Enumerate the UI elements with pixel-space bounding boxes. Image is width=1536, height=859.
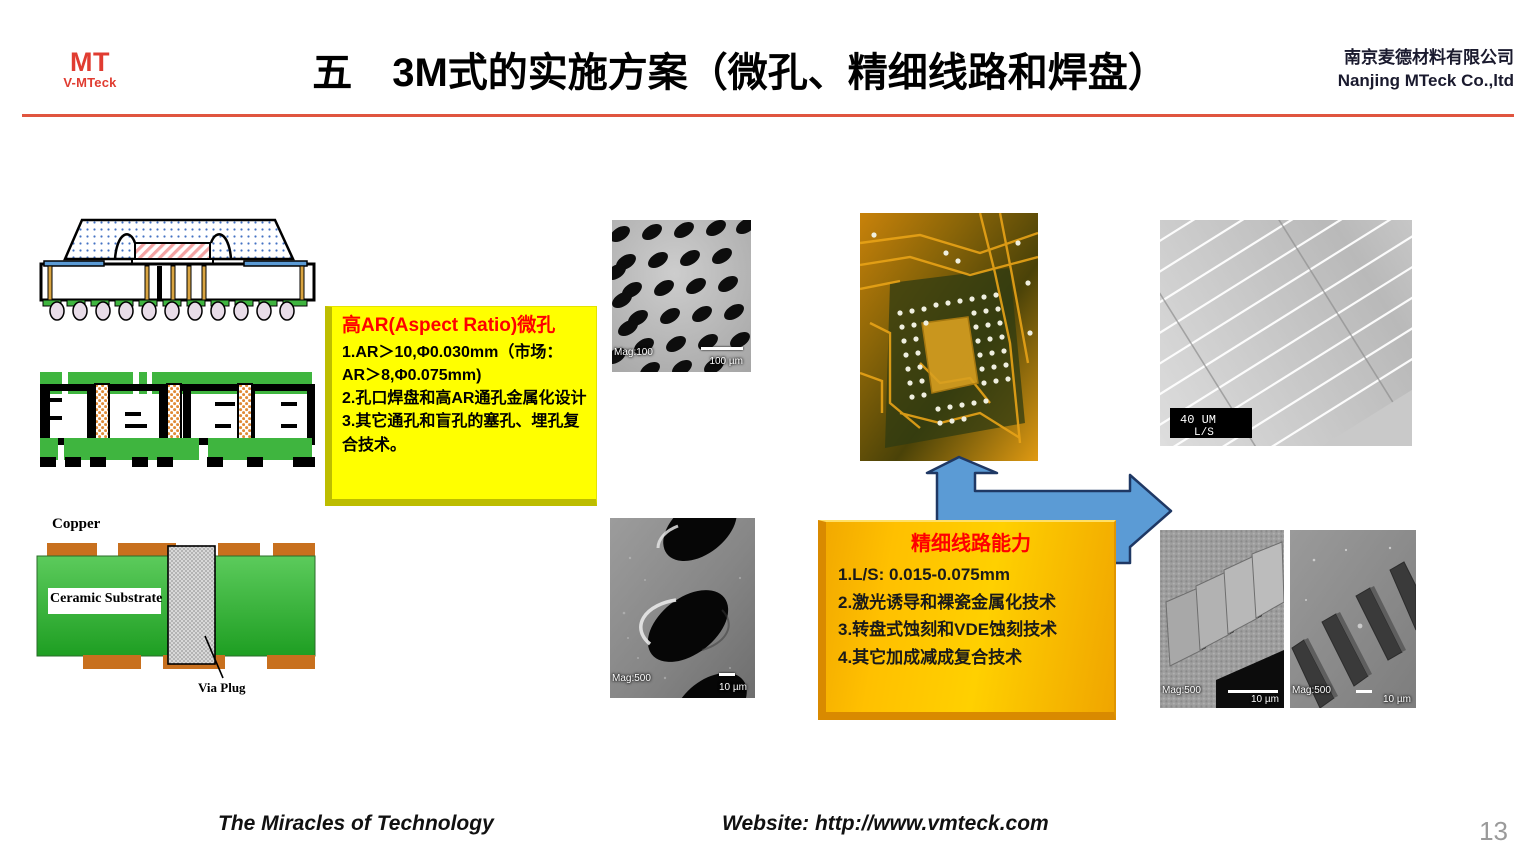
callout-fineline-line-1: 1.L/S: 0.015-0.075mm: [838, 561, 1104, 589]
sem-mag-label: Mag:500: [1162, 685, 1201, 696]
svg-text:40 UM: 40 UM: [1180, 413, 1216, 427]
sem-scale-label: 10 µm: [1383, 694, 1411, 705]
sem-mag-label: Mag:500: [612, 673, 651, 684]
label-ceramic-substrate: Ceramic Substrate: [50, 591, 162, 607]
sem-scale-label: 100 µm: [709, 356, 743, 367]
page-number: 13: [1479, 816, 1508, 847]
sem-trace-trenches-svg: [1290, 530, 1416, 708]
logo-subtitle: V-MTeck: [30, 76, 150, 90]
company-name: 南京麦德材料有限公司 Nanjing MTeck Co.,ltd: [1338, 47, 1514, 93]
page-title: 五 3M式的实施方案（微孔、精细线路和焊盘）: [200, 40, 1280, 98]
micrograph-sem-via-closeup: Mag:500 10 µm: [610, 518, 755, 698]
micrograph-sem-trace-trenches: Mag:500 10 µm: [1290, 530, 1416, 708]
callout-fineline-title: 精细线路能力: [838, 532, 1104, 557]
slide-canvas: MT V-MTeck 五 3M式的实施方案（微孔、精细线路和焊盘） 南京麦德材料…: [0, 0, 1536, 859]
sem-scale-label: 10 µm: [719, 682, 747, 693]
micrograph-sem-trace-walls: Mag:500 10 µm: [1160, 530, 1284, 708]
header-divider: [22, 114, 1514, 117]
sem-scale-label: 10 µm: [1251, 694, 1279, 705]
callout-microvia-line-2: AR＞8,Φ0.075mm): [342, 364, 588, 387]
company-name-en: Nanjing MTeck Co.,ltd: [1338, 70, 1514, 93]
callout-fineline-line-4: 4.其它加成减成复合技术: [838, 644, 1104, 672]
sem-scalebar: [719, 673, 735, 676]
package-cross-section-svg: [35, 212, 320, 342]
diagram-pcb-cross-section: [35, 372, 320, 477]
micrograph-sem-line-space: 40 UM L/S: [1160, 220, 1412, 446]
sem-scalebar: [701, 347, 743, 350]
callout-microvia: 高AR(Aspect Ratio)微孔 1.AR＞10,Φ0.030mm（市场：…: [325, 306, 597, 506]
label-copper: Copper: [52, 516, 100, 533]
callout-microvia-line-4: 3.其它通孔和盲孔的塞孔、埋孔复: [342, 410, 588, 433]
company-name-cn: 南京麦德材料有限公司: [1338, 47, 1514, 70]
photo-pcb-board: [860, 213, 1038, 461]
ceramic-substrate-svg: [35, 508, 325, 708]
sem-mag-label: Mag:100: [614, 347, 653, 358]
footer-website[interactable]: Website: http://www.vmteck.com: [722, 812, 1049, 836]
micrograph-sem-via-array: Mag:100 100 µm: [612, 220, 751, 372]
sem-via-closeup-svg: [610, 518, 755, 698]
svg-text:L/S: L/S: [1194, 427, 1214, 439]
callout-microvia-line-1: 1.AR＞10,Φ0.030mm（市场：: [342, 341, 588, 364]
company-logo: MT V-MTeck: [30, 48, 150, 90]
callout-microvia-line-3: 2.孔口焊盘和高AR通孔金属化设计: [342, 387, 588, 410]
sem-line-space-svg: 40 UM L/S: [1160, 220, 1412, 446]
callout-microvia-title: 高AR(Aspect Ratio)微孔: [342, 315, 588, 338]
callout-fineline-line-3: 3.转盘式蚀刻和VDE蚀刻技术: [838, 616, 1104, 644]
label-via-plug: Via Plug: [198, 680, 246, 696]
sem-mag-label: Mag:500: [1292, 685, 1331, 696]
footer-tagline: The Miracles of Technology: [218, 812, 494, 836]
sem-trace-walls-svg: [1160, 530, 1284, 708]
pcb-cross-section-svg: [35, 372, 320, 477]
logo-mark: MT: [30, 48, 150, 76]
callout-fineline: 精细线路能力 1.L/S: 0.015-0.075mm 2.激光诱导和裸瓷金属化…: [818, 520, 1116, 720]
callout-microvia-line-5: 合技术。: [342, 434, 588, 457]
pcb-board-photo-svg: [860, 213, 1038, 461]
diagram-package-cross-section: [35, 212, 320, 342]
callout-fineline-line-2: 2.激光诱导和裸瓷金属化技术: [838, 589, 1104, 617]
diagram-ceramic-substrate: Copper Ceramic Substrate Via Plug: [35, 508, 325, 708]
